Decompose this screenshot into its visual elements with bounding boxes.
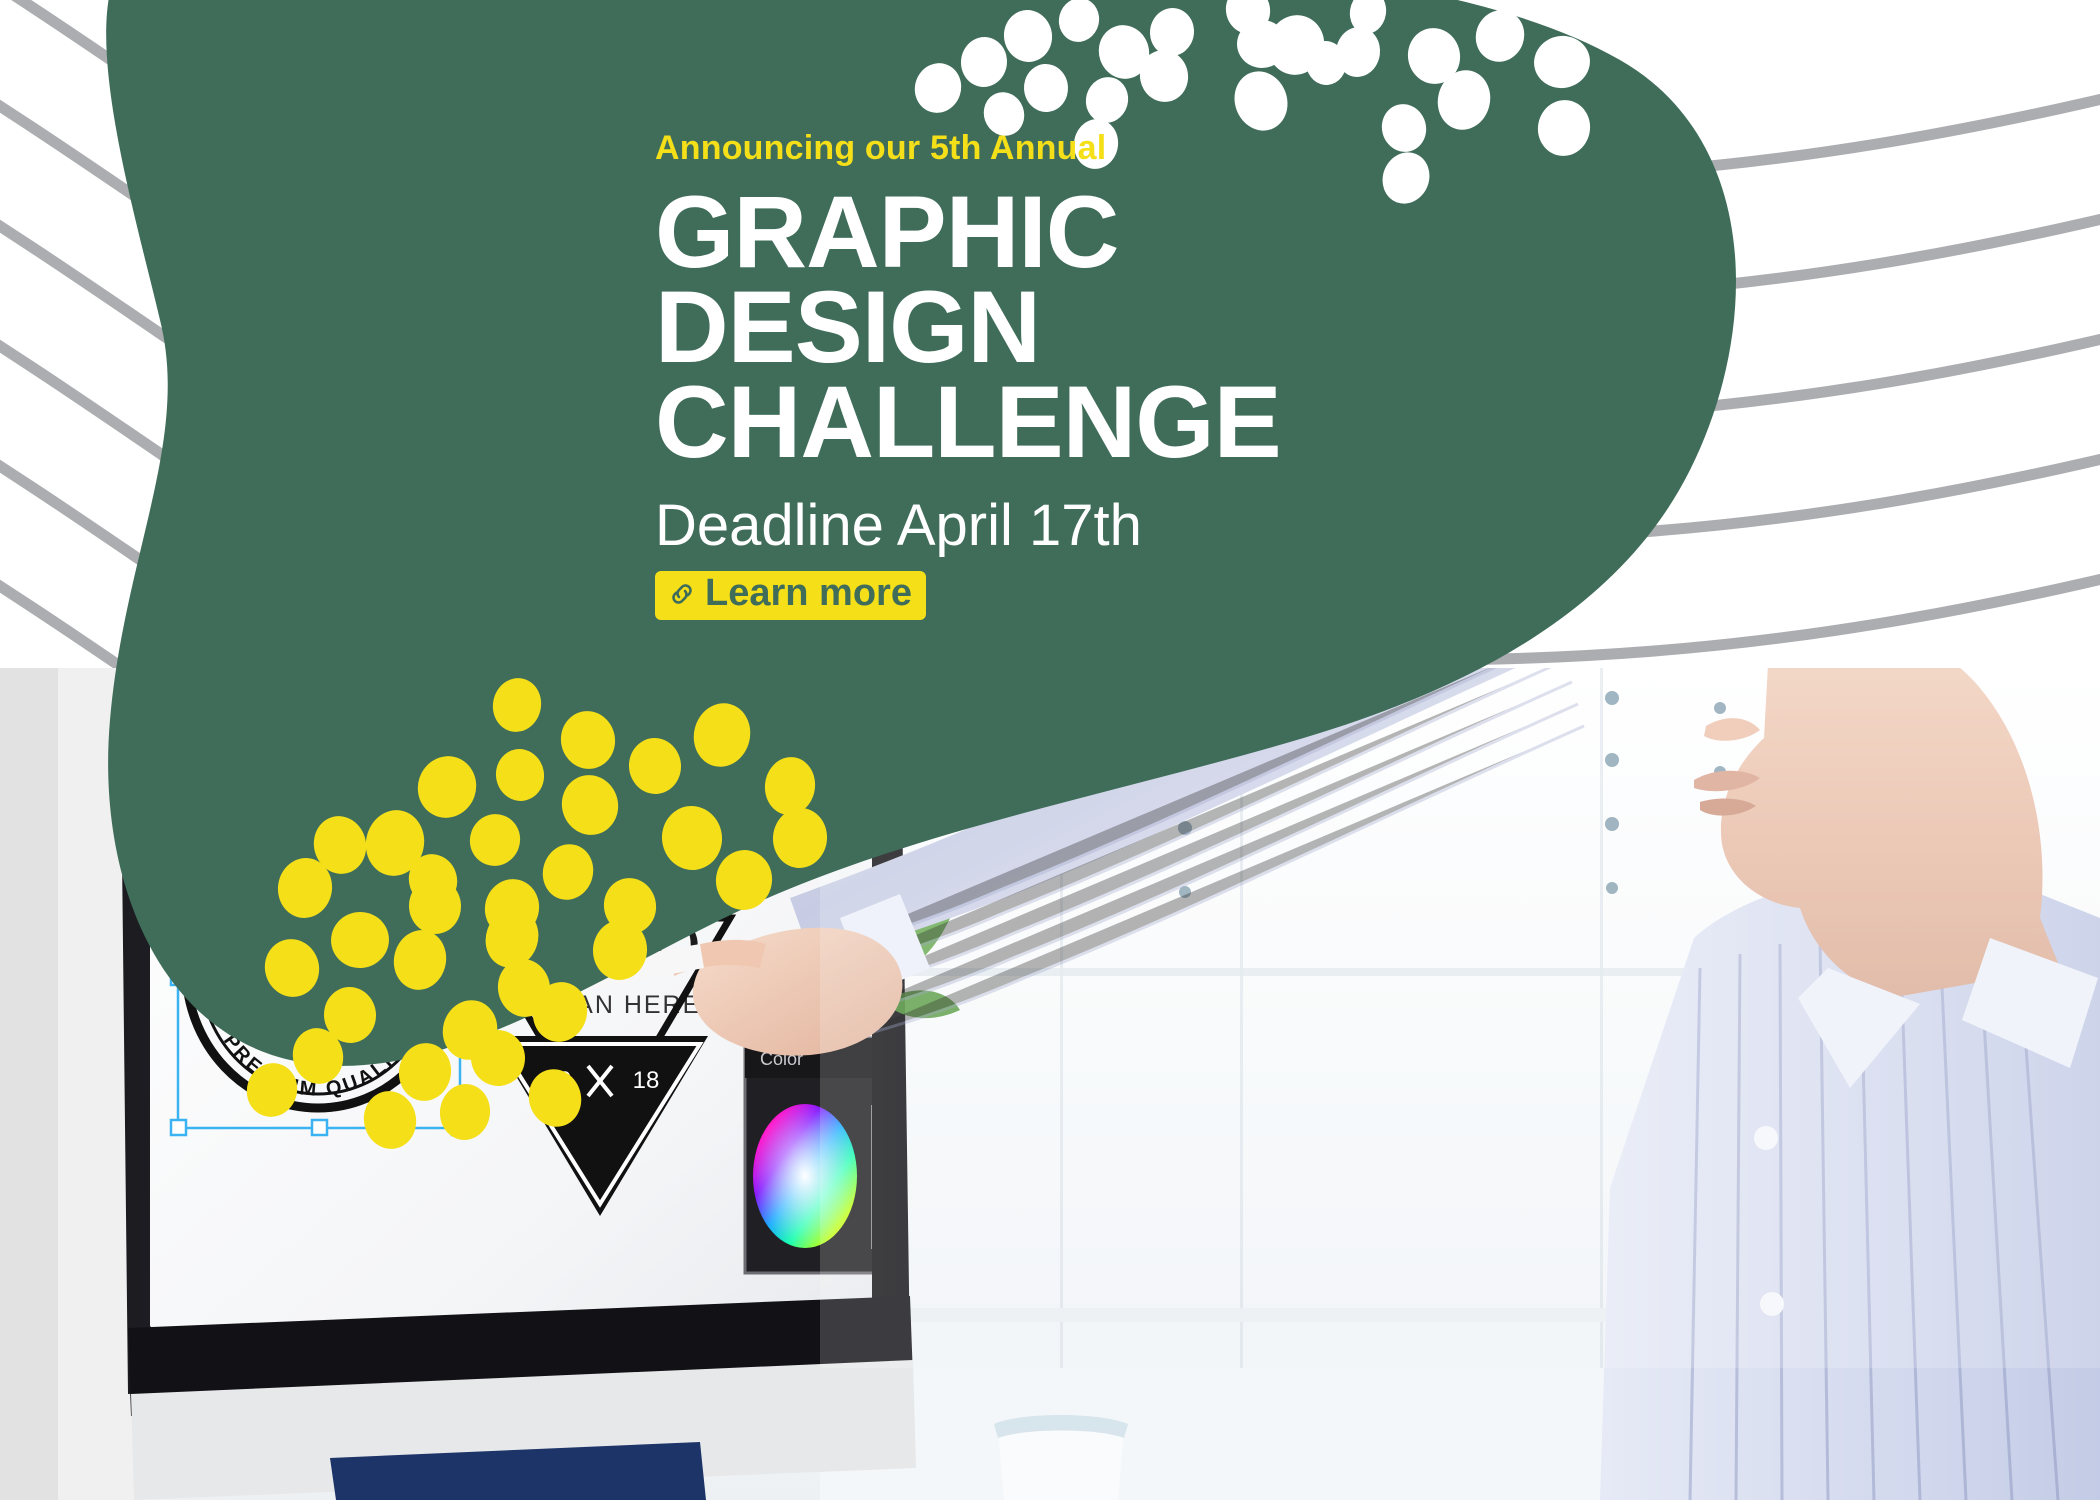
- announcement-block: Announcing our 5th Annual GRAPHIC DESIGN…: [655, 130, 1475, 620]
- headline-line-2: DESIGN: [655, 280, 1475, 375]
- headline-line-3: CHALLENGE: [655, 375, 1475, 470]
- water-glass: [994, 1415, 1128, 1500]
- poster-canvas: LOGO PREMIUM QUALITY: [0, 0, 2100, 1500]
- monitor: LOGO PREMIUM QUALITY: [120, 668, 916, 1500]
- headline-line-1: GRAPHIC: [655, 185, 1475, 280]
- eyebrow-text: Announcing our 5th Annual: [655, 130, 1475, 167]
- svg-text:LOGO: LOGO: [189, 883, 447, 979]
- link-chain-icon: [667, 579, 697, 609]
- office-photo: LOGO PREMIUM QUALITY: [0, 668, 2100, 1500]
- learn-more-label: Learn more: [705, 574, 912, 614]
- svg-text:20: 20: [545, 1067, 572, 1094]
- svg-text:18: 18: [633, 1067, 660, 1094]
- deadline-text: Deadline April 17th: [655, 496, 1475, 557]
- page-title: GRAPHIC DESIGN CHALLENGE: [655, 185, 1475, 470]
- learn-more-button[interactable]: Learn more: [655, 571, 926, 620]
